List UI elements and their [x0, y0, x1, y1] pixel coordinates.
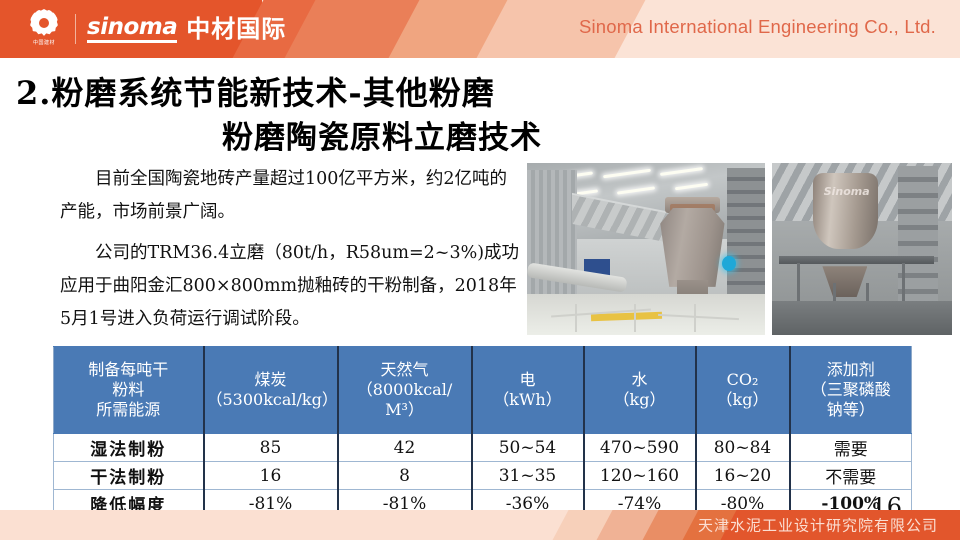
logo-wordmark-en: sinoma: [87, 16, 177, 43]
header-line-3: 钠等）: [793, 400, 910, 420]
logo-gear-icon: 中国建材: [26, 9, 62, 49]
table-header-cell-electricity: 电 （kWh）: [472, 347, 584, 434]
header-line-1: 制备每吨干: [56, 360, 201, 380]
table-row: 湿法制粉 85 42 50~54 470~590 80~84 需要: [54, 434, 912, 462]
body-paragraph-1: 目前全国陶瓷地砖产量超过100亿平方米，约2亿吨的产能，市场前景广阔。: [60, 163, 520, 229]
footer-institute-name: 天津水泥工业设计研究院有限公司: [698, 515, 938, 536]
header-line-2: （kg）: [587, 390, 693, 410]
header-line-2: （kg）: [699, 390, 787, 410]
slide-footer: 天津水泥工业设计研究院有限公司: [0, 510, 960, 540]
header-line-1: 电: [475, 370, 581, 390]
cell-additive: 需要: [790, 434, 912, 462]
table-header-cell-coal: 煤炭 （5300kcal/kg）: [204, 347, 338, 434]
table-header-cell-0: 制备每吨干 粉料 所需能源: [54, 347, 204, 434]
logo-wordmark-cn: 中材国际: [186, 17, 286, 41]
cell-electricity: 31~35: [472, 462, 584, 490]
cell-coal: 16: [204, 462, 338, 490]
table-header-cell-co2: CO₂ （kg）: [696, 347, 790, 434]
energy-comparison-table: 制备每吨干 粉料 所需能源 煤炭 （5300kcal/kg） 天然气 （8000…: [53, 346, 912, 518]
row-label: 湿法制粉: [54, 434, 204, 462]
company-name-en: Sinoma International Engineering Co., Lt…: [579, 16, 936, 38]
header-line-1: 添加剂: [793, 360, 910, 380]
cell-electricity: 50~54: [472, 434, 584, 462]
cell-water: 470~590: [584, 434, 696, 462]
header-line-1: 煤炭: [207, 370, 335, 390]
photo-silo-equipment: Sinoma: [772, 163, 952, 335]
cell-gas: 8: [338, 462, 472, 490]
slide-16: 中国建材 sinoma 中材国际 Sinoma International En…: [0, 0, 960, 540]
page-title: 2.粉磨系统节能新技术-其他粉磨: [16, 68, 495, 114]
table-header-cell-water: 水 （kg）: [584, 347, 696, 434]
table-header-row: 制备每吨干 粉料 所需能源 煤炭 （5300kcal/kg） 天然气 （8000…: [54, 347, 912, 434]
cell-co2: 16~20: [696, 462, 790, 490]
header-line-2: （kWh）: [475, 390, 581, 410]
photo-vertical-mill-workshop: [527, 163, 765, 335]
table-row: 干法制粉 16 8 31~35 120~160 16~20 不需要: [54, 462, 912, 490]
header-line-1: 天然气: [341, 360, 469, 380]
header-line-2: （8000kcal/: [341, 380, 469, 400]
row-label: 干法制粉: [54, 462, 204, 490]
cell-coal: 85: [204, 434, 338, 462]
table-body: 湿法制粉 85 42 50~54 470~590 80~84 需要 干法制粉 1…: [54, 434, 912, 518]
table-header-cell-additive: 添加剂 （三聚磷酸 钠等）: [790, 347, 912, 434]
cell-co2: 80~84: [696, 434, 790, 462]
body-paragraph-2: 公司的TRM36.4立磨（80t/h，R58um=2~3%)成功应用于曲阳金汇8…: [60, 237, 520, 336]
cell-additive: 不需要: [790, 462, 912, 490]
cell-water: 120~160: [584, 462, 696, 490]
body-text-block: 目前全国陶瓷地砖产量超过100亿平方米，约2亿吨的产能，市场前景广阔。 公司的T…: [60, 163, 520, 344]
table-header-cell-natural-gas: 天然气 （8000kcal/ M³）: [338, 347, 472, 434]
slide-header: 中国建材 sinoma 中材国际 Sinoma International En…: [0, 0, 960, 58]
page-subtitle: 粉磨陶瓷原料立磨技术: [222, 112, 542, 157]
header-line-1: CO₂: [699, 370, 787, 390]
header-line-3: M³）: [341, 400, 469, 420]
header-line-2: （5300kcal/kg）: [207, 390, 335, 410]
header-line-1: 水: [587, 370, 693, 390]
logo-sub-label: 中国建材: [33, 39, 55, 46]
silo-brand-text: Sinoma: [821, 185, 873, 198]
cell-gas: 42: [338, 434, 472, 462]
header-line-2: （三聚磷酸: [793, 380, 910, 400]
logo-divider: [75, 14, 76, 44]
sinoma-logo: 中国建材 sinoma 中材国际: [26, 9, 286, 49]
header-line-2: 粉料: [56, 380, 201, 400]
header-line-3: 所需能源: [56, 400, 201, 420]
